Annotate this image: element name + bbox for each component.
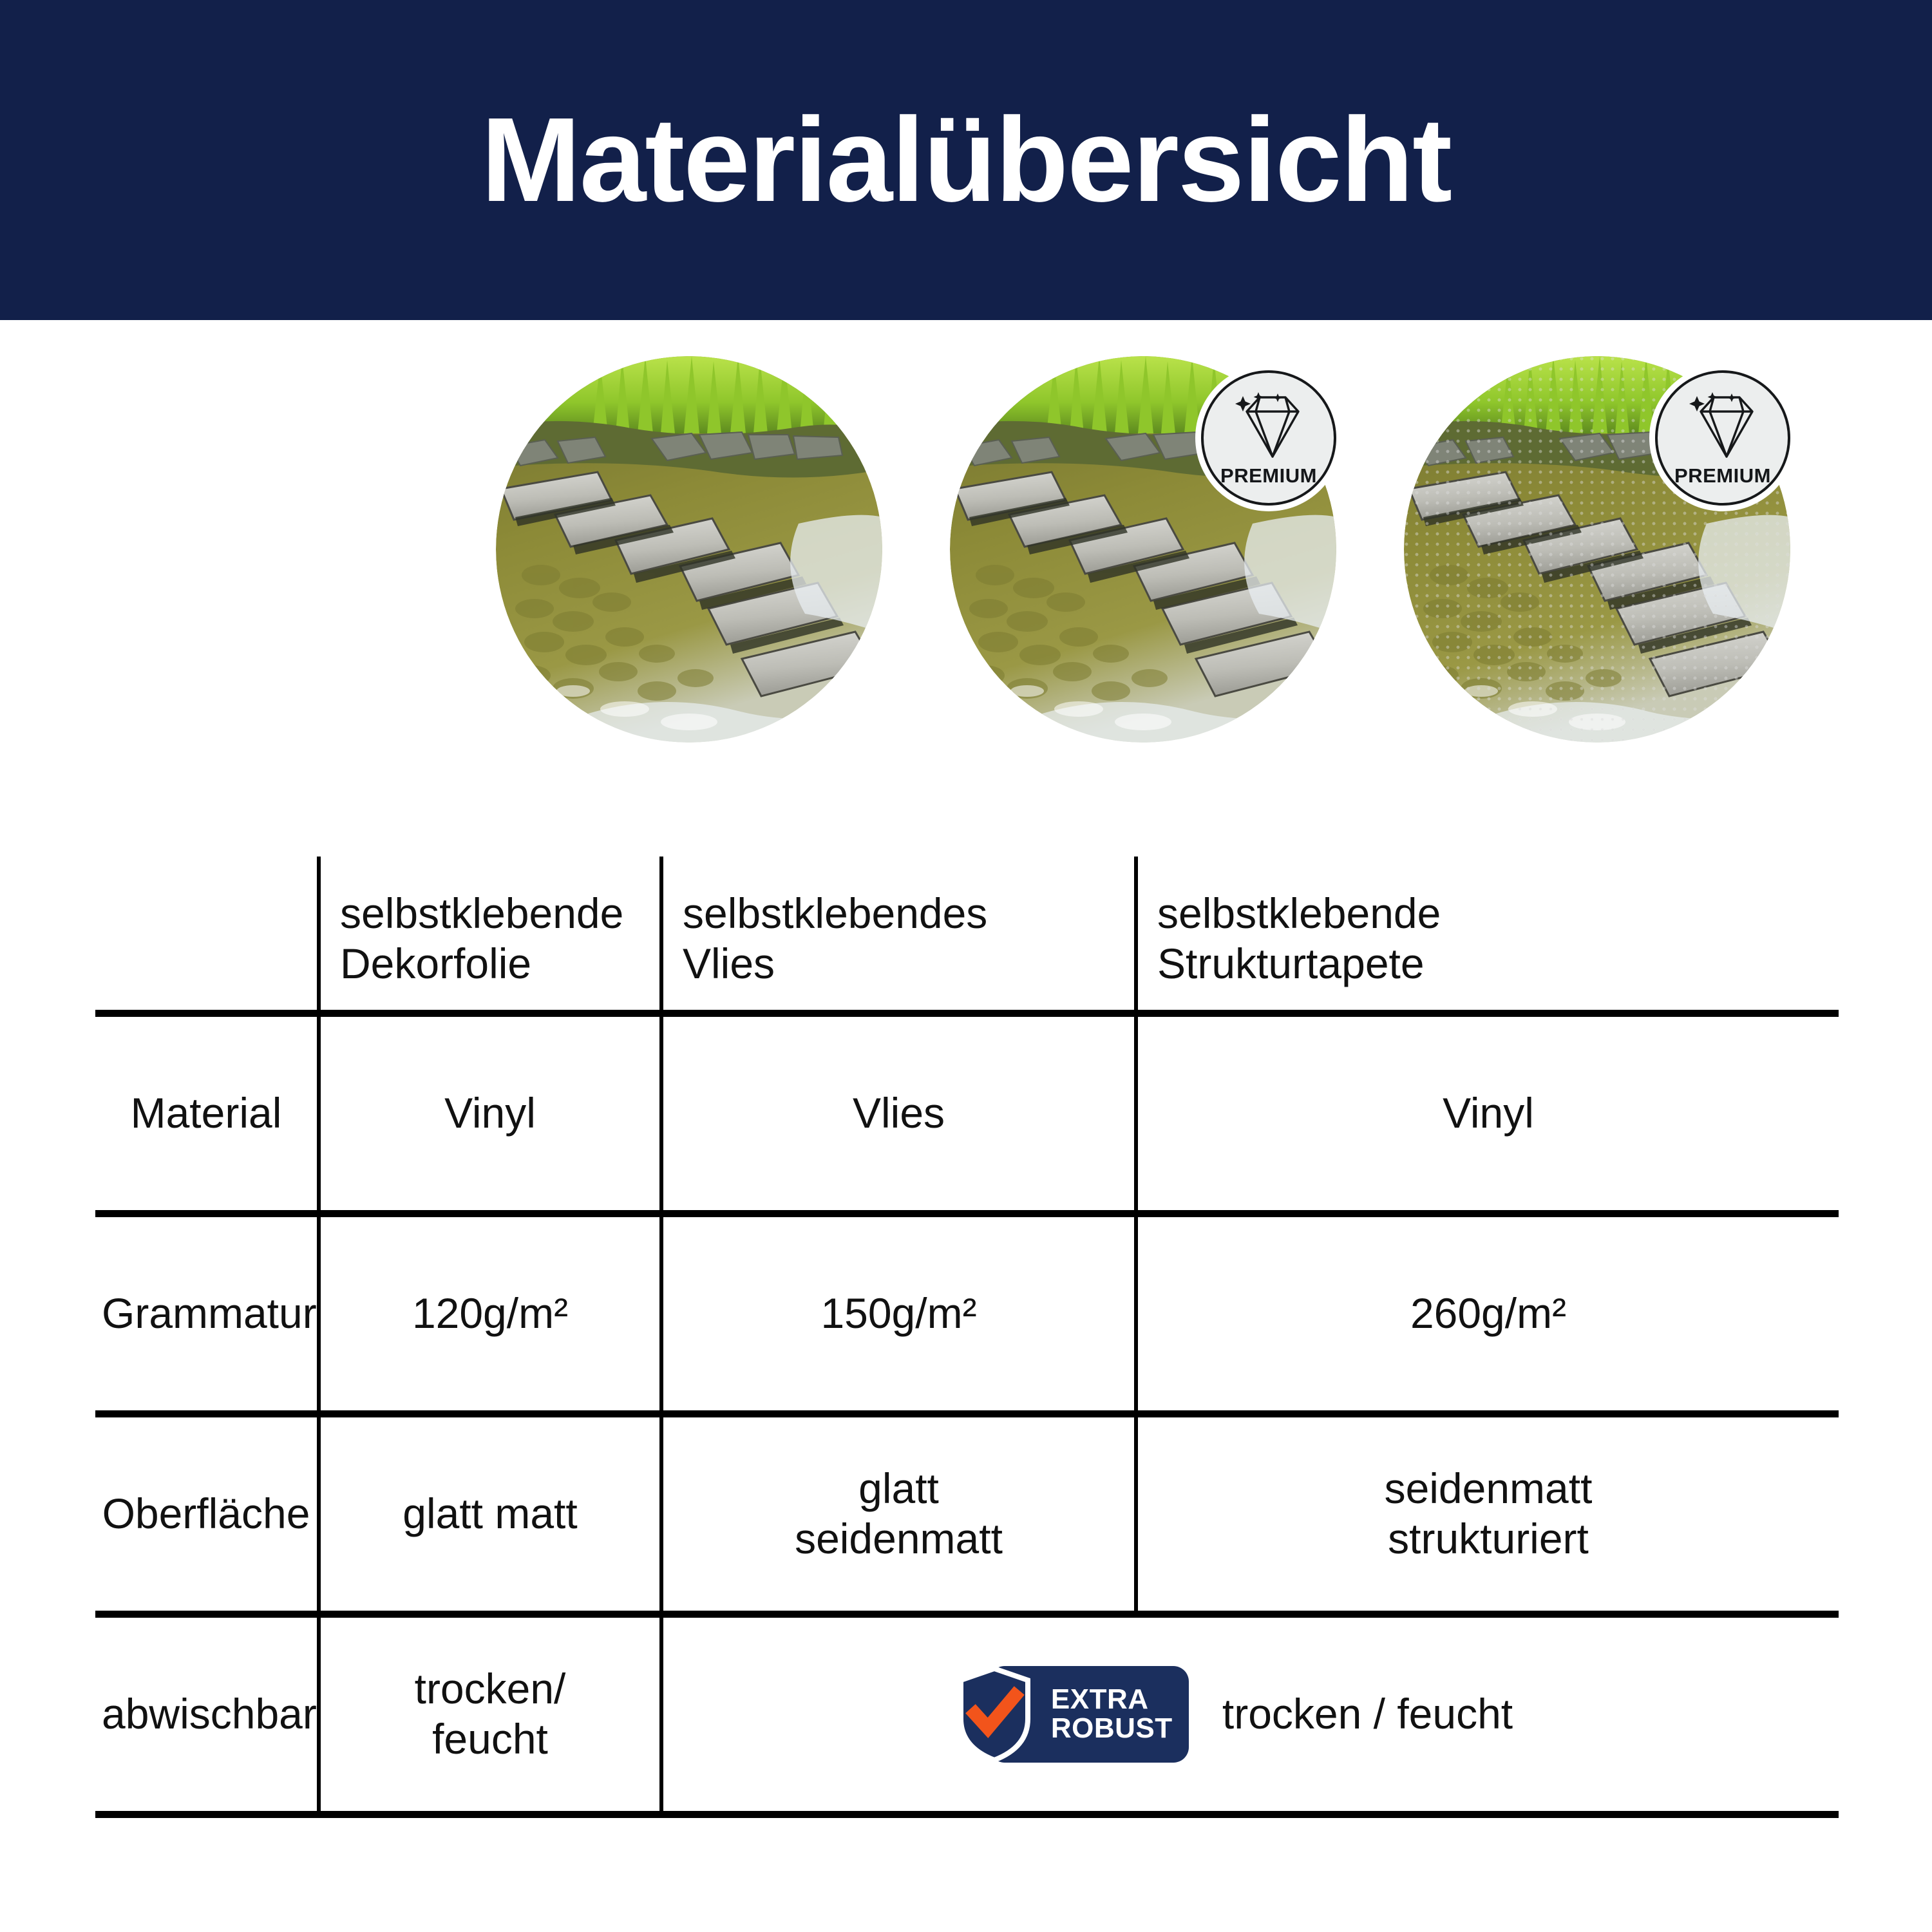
premium-badge: PREMIUM bbox=[1201, 370, 1336, 506]
cell-abwischbar-dekorfolie: trocken/ feucht bbox=[319, 1615, 661, 1815]
material-comparison-table: selbstklebende Dekorfolie selbstklebende… bbox=[95, 857, 1839, 1818]
product-circle-strukturtapete: PREMIUM bbox=[1404, 356, 1790, 743]
extra-robust-label: EXTRA ROBUST bbox=[1051, 1685, 1173, 1743]
row-label-material: Material bbox=[95, 1014, 319, 1214]
header-empty-cell bbox=[95, 857, 319, 1014]
cell-oberflaeche-vlies: glatt seidenmatt bbox=[661, 1414, 1136, 1615]
table-row: Grammatur 120g/m² 150g/m² 260g/m² bbox=[95, 1214, 1839, 1414]
page-title: Materialübersicht bbox=[481, 100, 1451, 220]
premium-badge-label: PREMIUM bbox=[1674, 464, 1771, 488]
premium-badge-label: PREMIUM bbox=[1220, 464, 1317, 488]
product-circle-dekorfolie bbox=[496, 356, 882, 743]
table-row: Oberfläche glatt matt glatt seidenmatt s… bbox=[95, 1414, 1839, 1615]
table-header-row: selbstklebende Dekorfolie selbstklebende… bbox=[95, 857, 1839, 1014]
cell-material-dekorfolie: Vinyl bbox=[319, 1014, 661, 1214]
header-bar: Materialübersicht bbox=[0, 0, 1932, 320]
premium-badge: PREMIUM bbox=[1655, 370, 1790, 506]
product-image-dekorfolie bbox=[496, 356, 882, 743]
cell-abwischbar-vlies-strukturtapete: EXTRA ROBUST trocken / feucht bbox=[661, 1615, 1839, 1815]
row-label-grammatur: Grammatur bbox=[95, 1214, 319, 1414]
table-row: abwischbar trocken/ feucht EXTRA bbox=[95, 1615, 1839, 1815]
column-header-strukturtapete: selbstklebende Strukturtapete bbox=[1136, 857, 1839, 1014]
table-row: Material Vinyl Vlies Vinyl bbox=[95, 1014, 1839, 1214]
cell-grammatur-vlies: 150g/m² bbox=[661, 1214, 1136, 1414]
column-header-dekorfolie: selbstklebende Dekorfolie bbox=[319, 857, 661, 1014]
shield-check-icon bbox=[956, 1666, 1033, 1763]
cell-material-vlies: Vlies bbox=[661, 1014, 1136, 1214]
cell-material-strukturtapete: Vinyl bbox=[1136, 1014, 1839, 1214]
cell-oberflaeche-dekorfolie: glatt matt bbox=[319, 1414, 661, 1615]
cell-abwischbar-value: trocken / feucht bbox=[1222, 1689, 1513, 1739]
cell-oberflaeche-strukturtapete: seidenmatt strukturiert bbox=[1136, 1414, 1839, 1615]
diamond-icon bbox=[1230, 392, 1307, 463]
cell-grammatur-strukturtapete: 260g/m² bbox=[1136, 1214, 1839, 1414]
cell-grammatur-dekorfolie: 120g/m² bbox=[319, 1214, 661, 1414]
row-label-abwischbar: abwischbar bbox=[95, 1615, 319, 1815]
column-header-vlies: selbstklebendes Vlies bbox=[661, 857, 1136, 1014]
row-label-oberflaeche: Oberfläche bbox=[95, 1414, 319, 1615]
extra-robust-badge: EXTRA ROBUST bbox=[989, 1666, 1189, 1763]
diamond-icon bbox=[1684, 392, 1761, 463]
product-circle-vlies: PREMIUM bbox=[950, 356, 1336, 743]
